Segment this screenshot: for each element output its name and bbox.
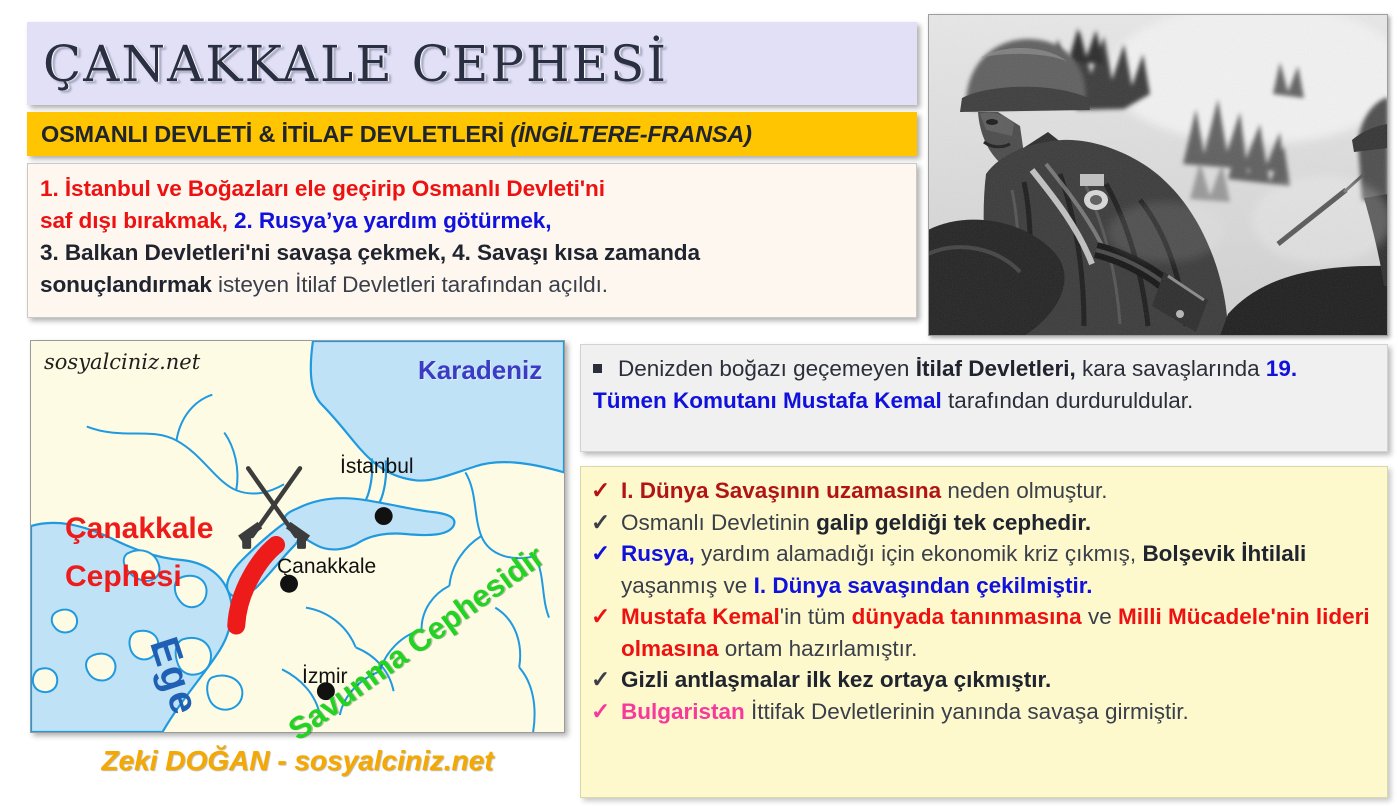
check-icon: ✓ [591,664,621,696]
result-item-text: I. Dünya Savaşının uzamasına neden olmuş… [621,475,1379,507]
result-list-item: ✓I. Dünya Savaşının uzamasına neden olmu… [591,475,1379,507]
result-text-segment: yaşanmış ve [621,573,754,598]
title-banner: ÇANAKKALE CEPHESİ [27,22,917,105]
note-seg-2: kara savaşlarında [1076,356,1266,381]
result-text-segment: Rusya, [621,541,695,566]
author-credit: Zeki DOĞAN - sosyalciniz.net [30,745,565,777]
mustafa-kemal-note-box: Denizden boğazı geçemeyen İtilaf Devletl… [580,344,1388,452]
result-item-text: Gizli antlaşmalar ilk kez ortaya çıkmışt… [621,664,1379,696]
aims-seg-blue: 2. Rusya’ya yardım götürmek, [234,208,551,233]
result-item-text: Rusya, yardım alamadığı için ekonomik kr… [621,538,1379,601]
subtitle-banner: OSMANLI DEVLETİ & İTİLAF DEVLETLERİ (İNG… [27,112,917,156]
front-name-line-1: Çanakkale [65,505,213,553]
note-seg-bold: İtilaf Devletleri, [916,356,1076,381]
aims-seg-red-2: saf dışı bırakmak, [40,208,234,233]
map-label-front-name: Çanakkale Cephesi [65,505,213,601]
result-text-segment: I. Dünya savaşından çekilmiştir. [754,573,1093,598]
aims-seg-red-1: 1. İstanbul ve Boğazları ele geçirip Osm… [40,176,605,201]
page-title: ÇANAKKALE CEPHESİ [27,39,668,89]
map-label-karadeniz: Karadeniz [418,355,542,386]
result-text-segment: Bulgaristan [621,699,745,724]
aims-seg-plain: isteyen İtilaf Devletleri tarafından açı… [212,272,608,297]
result-text-segment: ve [1082,604,1118,629]
result-item-text: Osmanlı Devletinin galip geldiği tek cep… [621,507,1379,539]
map-watermark: sosyalciniz.net [44,350,200,374]
note-seg-3: tarafından durduruldular. [942,388,1193,413]
war-aims-box: 1. İstanbul ve Boğazları ele geçirip Osm… [27,163,917,318]
result-text-segment: Mustafa Kemal [621,604,780,629]
result-list-item: ✓Mustafa Kemal'in tüm dünyada tanınmasın… [591,601,1379,664]
result-text-segment: neden olmuştur. [941,478,1107,503]
result-list-item: ✓Bulgaristan İttifak Devletlerinin yanın… [591,696,1379,728]
map-label-istanbul: İstanbul [340,455,414,479]
result-text-segment: Osmanlı Devletinin [621,510,816,535]
result-text-segment: yardım alamadığı için ekonomik kriz çıkm… [695,541,1143,566]
aims-line-3: 3. Balkan Devletleri'ni savaşa çekmek, 4… [40,237,906,269]
result-text-segment: İttifak Devletlerinin yanında savaşa gir… [745,699,1189,724]
check-icon: ✓ [591,601,621,633]
photo-graphic [928,14,1388,336]
front-name-line-2: Cephesi [65,553,213,601]
result-text-segment: dünyada tanınmasına [852,604,1082,629]
result-text-segment: Bolşevik İhtilali [1142,541,1306,566]
check-icon: ✓ [591,696,621,728]
map-label-canakkale: Çanakkale [277,555,376,579]
city-dot-istanbul [375,507,393,525]
check-icon: ✓ [591,538,621,570]
square-bullet-icon [593,364,602,373]
aims-seg-dark-2: sonuçlandırmak [40,272,212,297]
result-text-segment: I. Dünya Savaşının uzamasına [621,478,941,503]
subtitle-main: OSMANLI DEVLETİ & İTİLAF DEVLETLERİ [41,121,510,147]
aims-seg-dark-1: 3. Balkan Devletleri'ni savaşa çekmek, 4… [40,240,700,265]
check-icon: ✓ [591,475,621,507]
result-list-item: ✓Rusya, yardım alamadığı için ekonomik k… [591,538,1379,601]
aims-line-2: saf dışı bırakmak, 2. Rusya’ya yardım gö… [40,205,906,237]
result-item-text: Mustafa Kemal'in tüm dünyada tanınmasına… [621,601,1379,664]
result-text-segment: galip geldiği tek cephedir. [816,510,1091,535]
results-list-box: ✓I. Dünya Savaşının uzamasına neden olmu… [580,466,1388,798]
result-item-text: Bulgaristan İttifak Devletlerinin yanınd… [621,696,1379,728]
aims-line-4: sonuçlandırmak isteyen İtilaf Devletleri… [40,269,906,301]
result-text-segment: 'in tüm [780,604,852,629]
ottoman-soldier-trench-photo [928,14,1388,336]
note-seg-1: Denizden boğazı geçemeyen [618,356,916,381]
subtitle-parenthetical: (İNGİLTERE-FRANSA) [510,121,751,147]
result-list-item: ✓Gizli antlaşmalar ilk kez ortaya çıkmış… [591,664,1379,696]
subtitle-inner: OSMANLI DEVLETİ & İTİLAF DEVLETLERİ (İNG… [27,121,752,148]
result-list-item: ✓Osmanlı Devletinin galip geldiği tek ce… [591,507,1379,539]
aims-line-1: 1. İstanbul ve Boğazları ele geçirip Osm… [40,173,906,205]
check-icon: ✓ [591,507,621,539]
result-text-segment: Gizli antlaşmalar ilk kez ortaya çıkmışt… [621,667,1051,692]
result-text-segment: ortam hazırlamıştır. [719,636,918,661]
